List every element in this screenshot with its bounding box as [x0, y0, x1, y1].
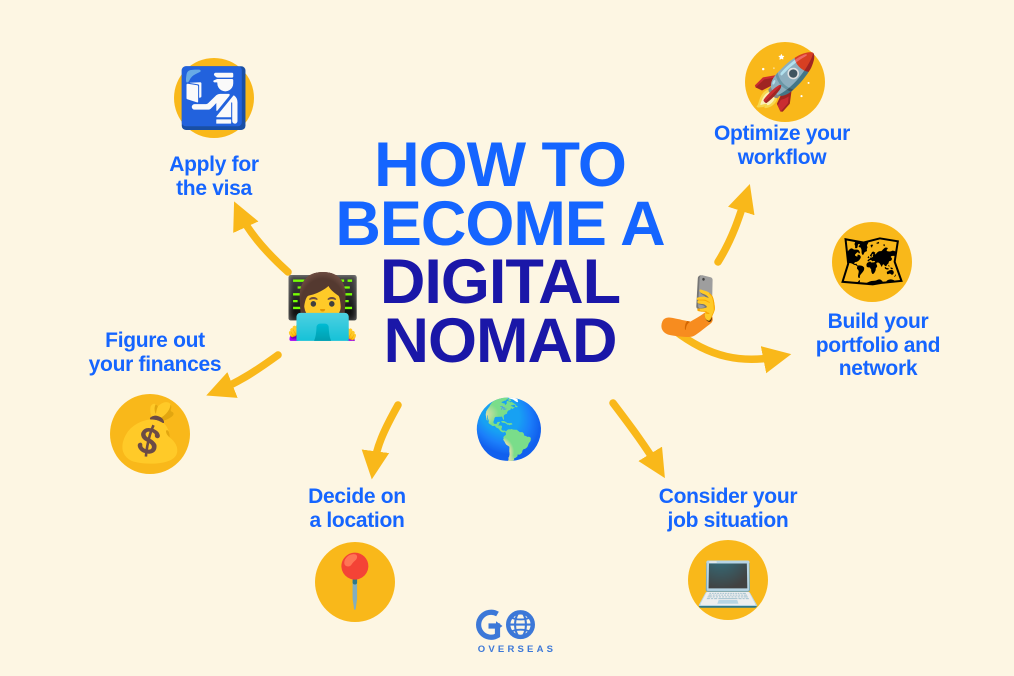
- go-overseas-logo-mark: [474, 608, 560, 642]
- go-globe-icon: [474, 608, 560, 642]
- logo-subtitle: OVERSEAS: [474, 644, 560, 655]
- step-label-figure-out-your-finances: Figure out your finances: [70, 329, 240, 376]
- arrow-to-visa: [238, 210, 288, 272]
- arrow-to-location: [373, 405, 398, 470]
- infographic-canvas: HOW TO BECOME A DIGITAL NOMAD 👩‍💻 🤳 🌎 🛂 …: [0, 0, 1014, 676]
- step-label-optimize-your-workflow: Optimize your workflow: [692, 122, 872, 169]
- step-label-apply-for-the-visa: Apply for the visa: [134, 153, 294, 200]
- passport-control-icon: 🛂: [178, 69, 250, 127]
- title-line-2: BECOME A: [300, 195, 700, 254]
- step-icon-figure-out-your-finances[interactable]: 💰: [110, 394, 190, 474]
- step-icon-build-your-portfolio-and-network[interactable]: 🗺: [832, 222, 912, 302]
- round-pushpin-icon: 📍: [323, 556, 388, 608]
- selfie-hand-phone-icon: 🤳: [655, 277, 727, 335]
- step-label-consider-your-job-situation: Consider your job situation: [638, 485, 818, 532]
- world-map-icon: 🗺: [839, 236, 905, 288]
- step-icon-decide-on-a-location[interactable]: 📍: [315, 542, 395, 622]
- step-label-decide-on-a-location: Decide on a location: [277, 485, 437, 532]
- title-line-1: HOW TO: [300, 136, 700, 195]
- rocket-icon: 🚀: [751, 55, 818, 109]
- step-icon-consider-your-job-situation[interactable]: 💻: [688, 540, 768, 620]
- step-icon-apply-for-the-visa[interactable]: 🛂: [174, 58, 254, 138]
- brand-logo[interactable]: OVERSEAS: [474, 608, 560, 655]
- laptop-icon: 💻: [696, 554, 761, 606]
- arrow-to-workflow: [718, 193, 747, 262]
- step-icon-optimize-your-workflow[interactable]: 🚀: [745, 42, 825, 122]
- woman-technologist-icon: 👩‍💻: [284, 276, 361, 338]
- money-bag-icon: 💰: [115, 406, 185, 462]
- earth-globe-americas-icon: 🌎: [473, 400, 545, 458]
- step-label-build-your-portfolio-and-network: Build your portfolio and network: [790, 310, 966, 381]
- arrow-to-job-situation: [613, 403, 660, 470]
